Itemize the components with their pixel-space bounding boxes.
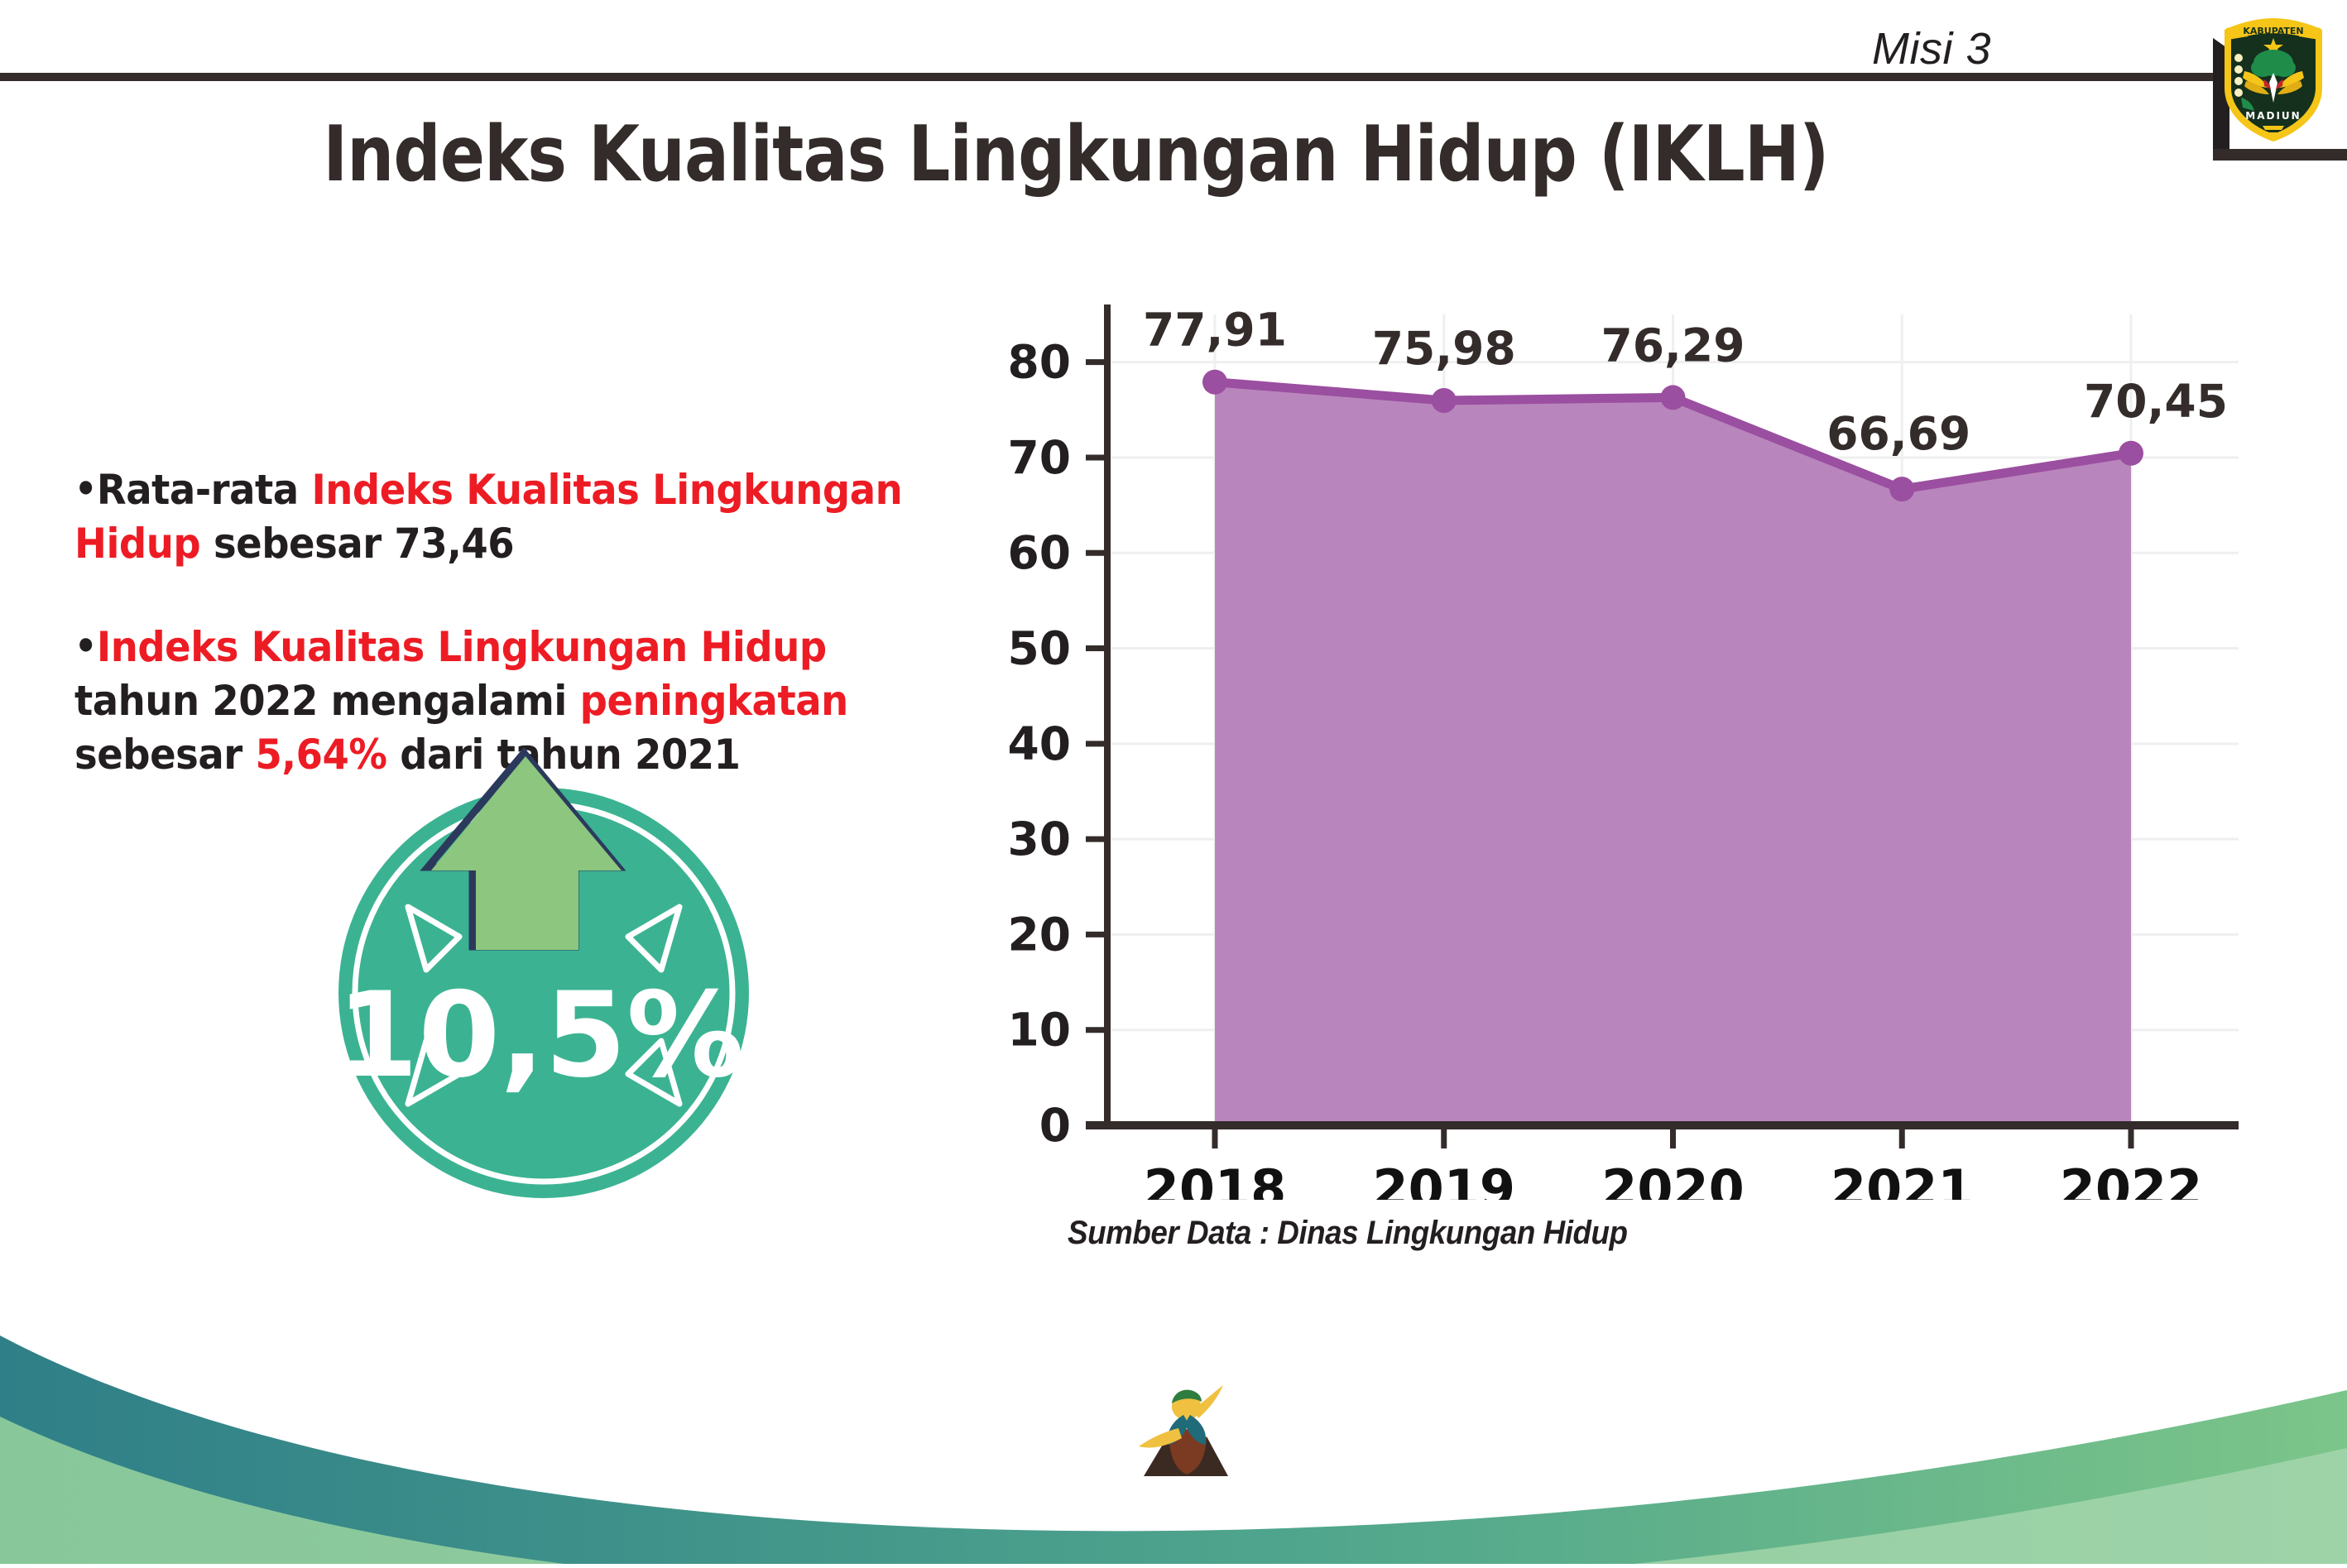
data-point-marker — [1889, 477, 1914, 501]
data-point-label: 75,98 — [1372, 322, 1516, 375]
bullet-item: •Rata-rata Indeks Kualitas Lingkungan Hi… — [74, 463, 929, 571]
x-axis-tick-label: 2018 — [1144, 1158, 1287, 1200]
iklh-area-chart: 010203040506070802018201920202021202277,… — [960, 290, 2251, 1200]
bullet-text-0: Rata-rata Indeks Kualitas Lingkungan Hid… — [74, 466, 902, 568]
bullet-dot-icon: • — [74, 466, 97, 511]
source-note: Sumber Data : Dinas Lingkungan Hidup — [1068, 1215, 1628, 1252]
y-axis-tick-label: 60 — [1007, 526, 1071, 579]
mission-label: Misi 3 — [1872, 23, 1991, 74]
y-axis-tick-label: 10 — [1007, 1004, 1071, 1057]
y-axis-tick-label: 20 — [1007, 908, 1071, 961]
y-axis-tick-label: 80 — [1007, 336, 1071, 389]
y-axis-tick-label: 30 — [1007, 813, 1071, 866]
data-point-marker — [1661, 385, 1686, 410]
data-point-marker — [2119, 441, 2143, 466]
data-point-marker — [1202, 370, 1227, 395]
bullet-dot-icon: • — [74, 623, 97, 668]
plain-phrase: sebesar — [74, 731, 256, 779]
data-point-label: 76,29 — [1601, 319, 1745, 372]
left-text-panel: •Rata-rata Indeks Kualitas Lingkungan Hi… — [74, 463, 993, 782]
data-point-marker — [1432, 388, 1457, 413]
y-axis-tick-label: 40 — [1007, 717, 1071, 770]
highlighted-phrase: Indeks Kualitas Lingkungan Hidup — [97, 623, 827, 671]
x-axis-tick-label: 2021 — [1831, 1158, 1974, 1200]
y-axis-tick-label: 0 — [1039, 1099, 1071, 1152]
x-axis-tick-label: 2022 — [2060, 1158, 2203, 1200]
svg-text:KABUPATEN: KABUPATEN — [2243, 26, 2303, 36]
dancing-figure-logo — [1135, 1377, 1235, 1484]
kabupaten-madiun-emblem: KABUPATEN MADIUN — [2211, 12, 2335, 146]
plain-phrase: sebesar 73,46 — [200, 520, 514, 568]
increase-badge: 10,5% — [327, 745, 757, 1208]
x-axis-tick-label: 2019 — [1372, 1158, 1515, 1200]
y-axis-tick-label: 70 — [1007, 431, 1071, 484]
svg-text:MADIUN: MADIUN — [2245, 110, 2301, 122]
x-axis-tick-label: 2020 — [1601, 1158, 1745, 1200]
data-point-label: 70,45 — [2084, 375, 2228, 428]
data-point-label: 66,69 — [1826, 407, 1970, 460]
area-fill — [1215, 382, 2131, 1125]
plain-phrase: tahun 2022 mengalami — [74, 677, 580, 725]
y-axis-tick-label: 50 — [1007, 622, 1071, 675]
data-point-label: 77,91 — [1143, 304, 1287, 357]
plain-phrase: Rata-rata — [97, 466, 312, 514]
highlighted-phrase: peningkatan — [580, 677, 848, 725]
page-title: Indeks Kualitas Lingkungan Hidup (IKLH) — [151, 109, 2001, 199]
badge-value: 10,5% — [337, 967, 745, 1104]
